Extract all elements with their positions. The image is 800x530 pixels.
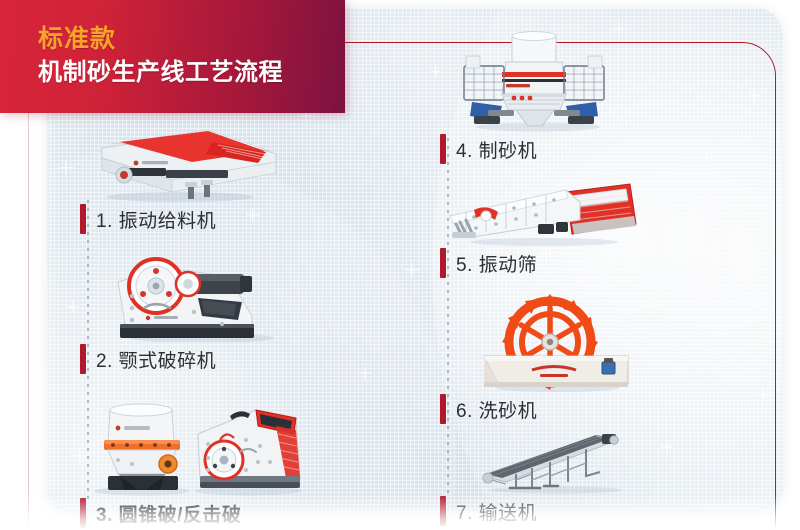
jaw-crusher-icon	[102, 246, 302, 342]
machine-image-vibrating-screen	[440, 172, 740, 246]
left-step-column: 1. 振动给料机	[80, 118, 370, 530]
step-marker-bar	[440, 496, 446, 526]
step-text: 2. 颚式破碎机	[96, 346, 216, 373]
header-banner: 标准款 机制砂生产线工艺流程	[0, 0, 345, 113]
belt-conveyor-icon	[476, 432, 646, 494]
step-label: 7. 输送机	[440, 494, 740, 528]
step-marker-bar	[80, 498, 86, 528]
step-marker-bar	[440, 394, 446, 424]
step-marker-bar	[440, 248, 446, 278]
step-item[interactable]: 1. 振动给料机	[80, 118, 370, 236]
step-text: 1. 振动给料机	[96, 206, 216, 233]
step-item[interactable]: 5. 振动筛	[440, 172, 740, 280]
sand-washer-icon	[478, 294, 638, 392]
flowchart-poster: 1. 振动给料机	[0, 0, 800, 530]
step-text: 3. 圆锥破/反击破	[96, 500, 241, 527]
step-text: 6. 洗砂机	[456, 396, 537, 423]
machine-image-sand-making-machine	[440, 28, 740, 132]
machine-image-belt-conveyor	[440, 432, 740, 494]
step-item[interactable]: 6. 洗砂机	[440, 294, 740, 426]
step-item[interactable]: 3. 圆锥破/反击破	[80, 390, 370, 530]
step-text: 5. 振动筛	[456, 250, 537, 277]
step-text: 4. 制砂机	[456, 136, 537, 163]
vibrating-feeder-icon	[80, 118, 280, 202]
vibrating-screen-icon	[440, 172, 640, 246]
step-text: 7. 输送机	[456, 498, 537, 525]
machine-image-sand-washer	[440, 294, 740, 392]
right-step-column: 4. 制砂机	[440, 28, 740, 530]
machine-image-cone-and-impact-crusher	[80, 390, 370, 496]
step-label: 4. 制砂机	[440, 132, 740, 166]
banner-subtitle: 标准款	[38, 25, 345, 54]
banner-title: 机制砂生产线工艺流程	[38, 57, 345, 88]
sand-making-machine-icon	[448, 28, 628, 132]
machine-image-jaw-crusher	[80, 246, 370, 342]
step-item[interactable]: 7. 输送机	[440, 432, 740, 528]
step-label: 3. 圆锥破/反击破	[80, 496, 370, 530]
step-marker-bar	[80, 204, 86, 234]
step-marker-bar	[80, 344, 86, 374]
step-marker-bar	[440, 134, 446, 164]
step-item[interactable]: 2. 颚式破碎机	[80, 246, 370, 376]
step-label: 2. 颚式破碎机	[80, 342, 370, 376]
step-item[interactable]: 4. 制砂机	[440, 28, 740, 166]
step-label: 6. 洗砂机	[440, 392, 740, 426]
cone-and-impact-crusher-icon	[80, 390, 310, 496]
step-label: 5. 振动筛	[440, 246, 740, 280]
machine-image-vibrating-feeder	[80, 118, 370, 202]
step-label: 1. 振动给料机	[80, 202, 370, 236]
